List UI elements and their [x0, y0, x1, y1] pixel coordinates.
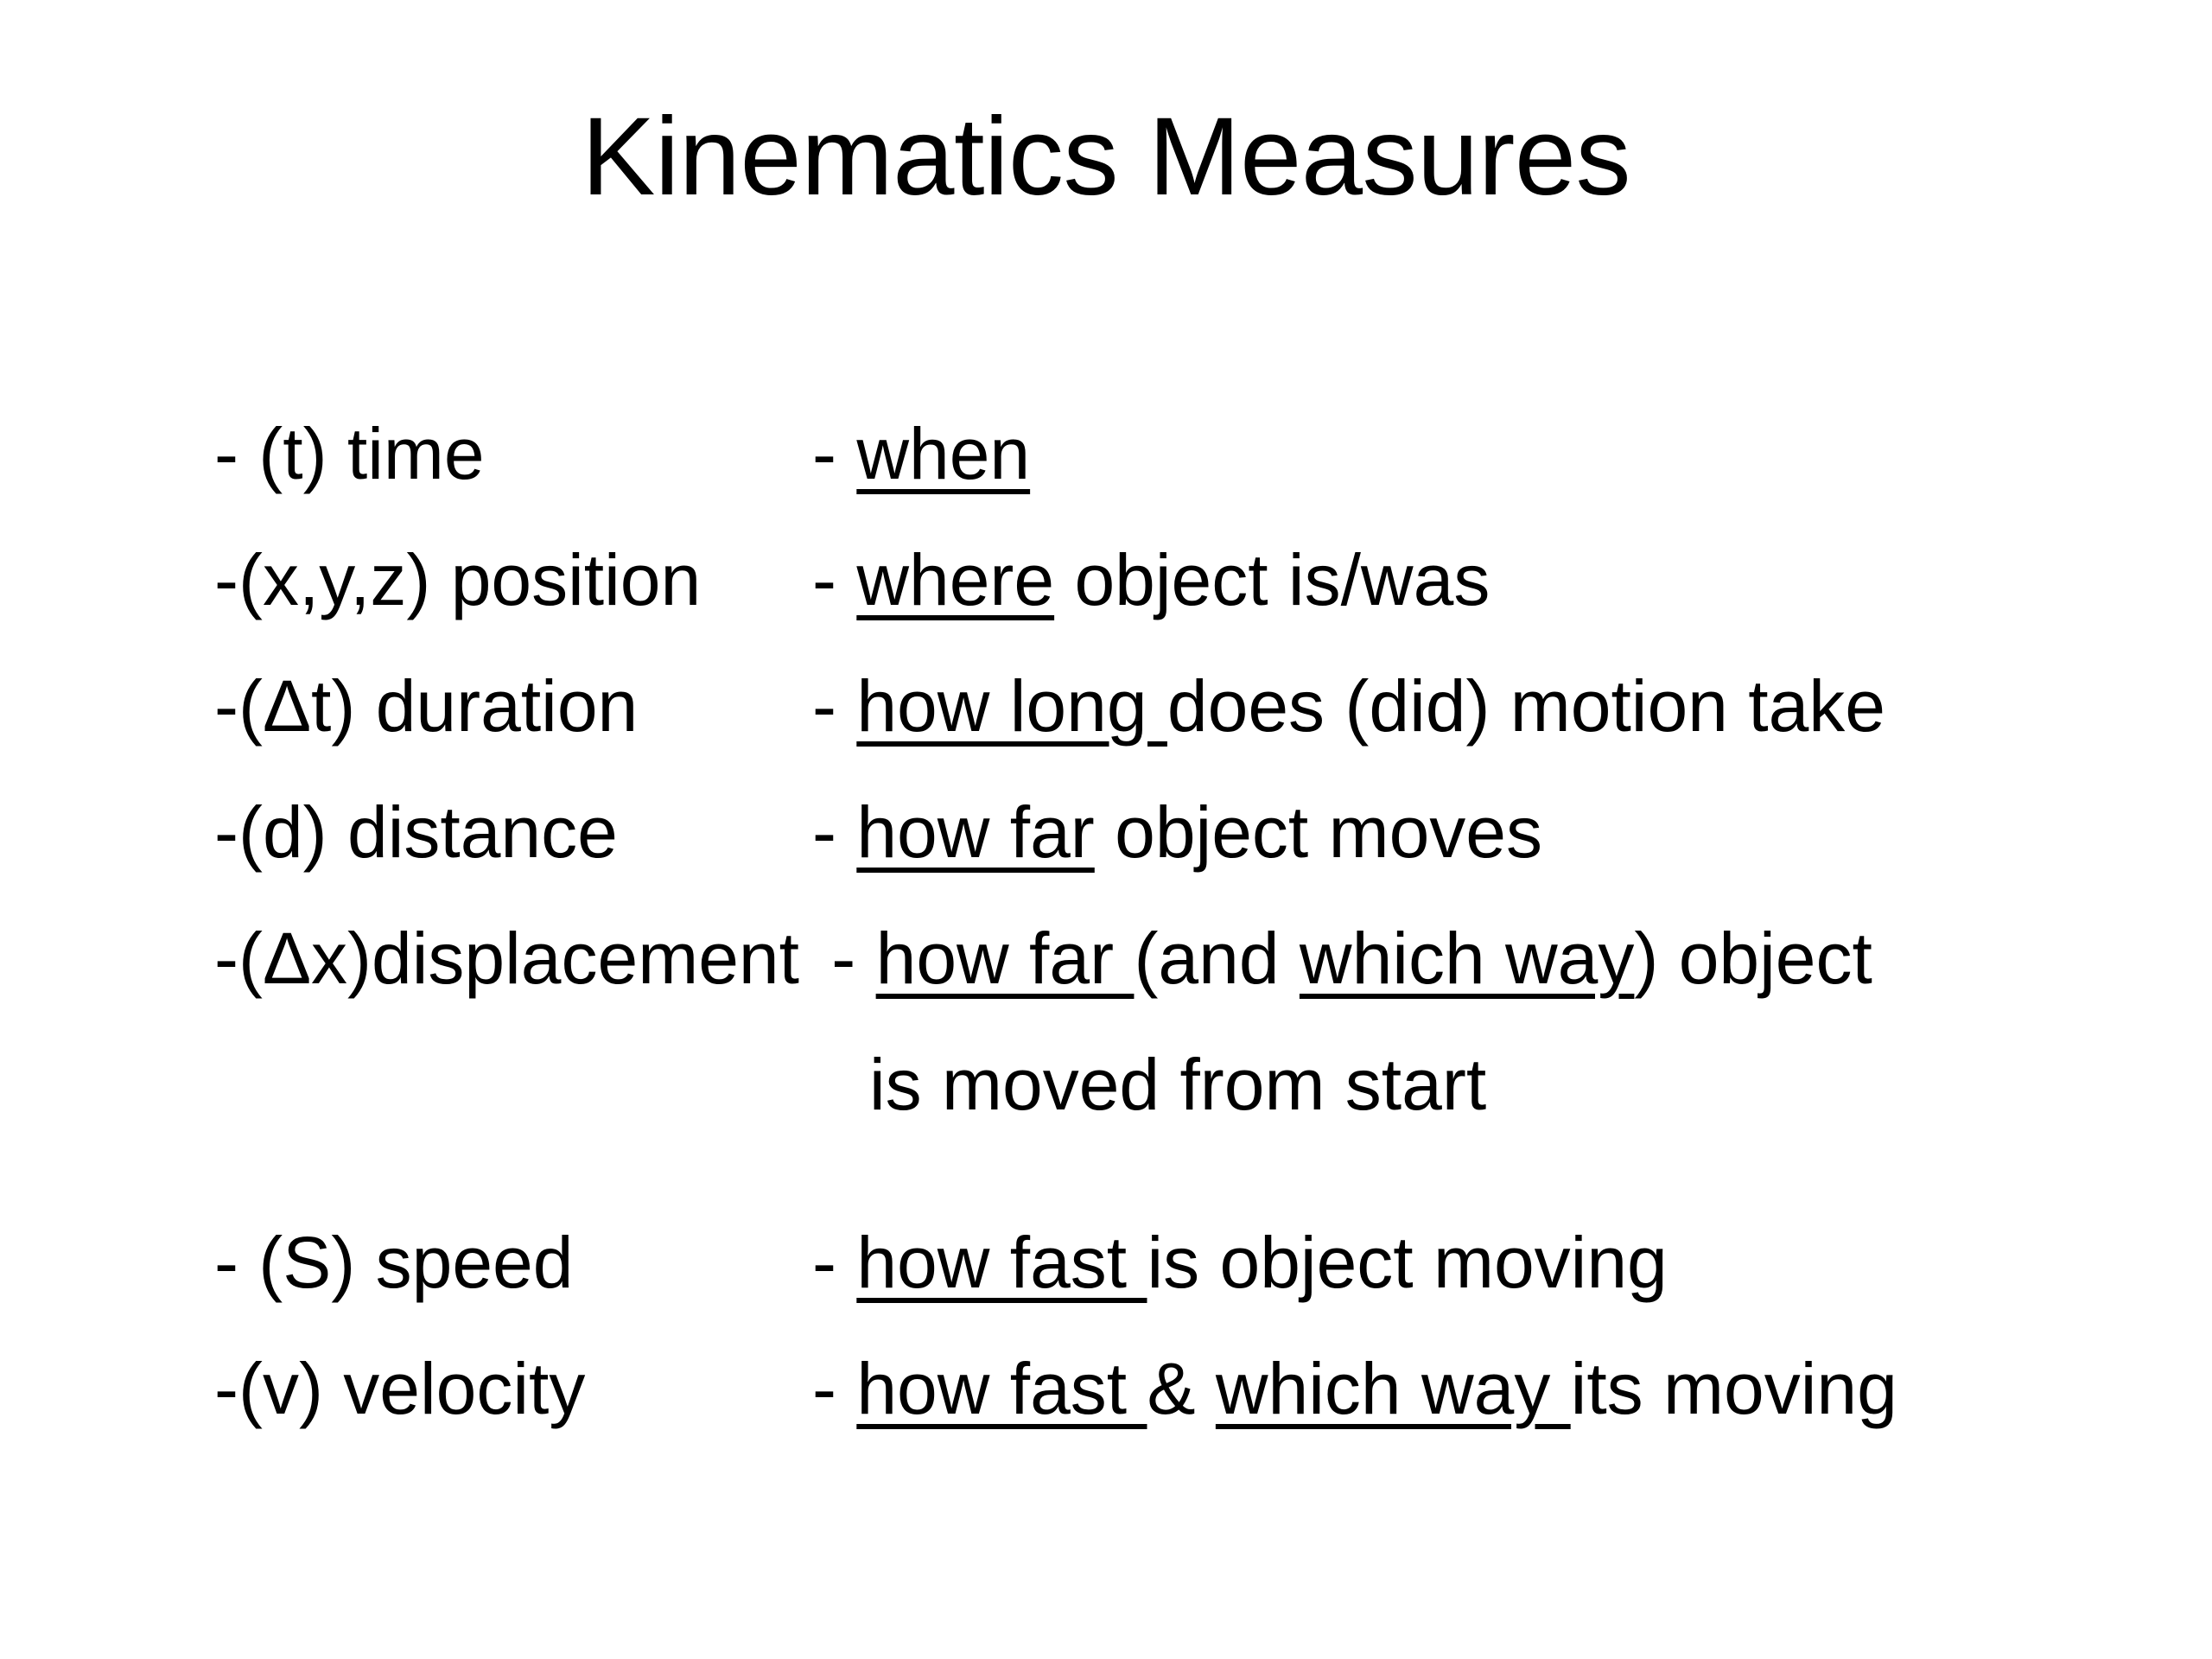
- term-distance: -(d) distance: [214, 769, 812, 895]
- page-title: Kinematics Measures: [582, 95, 1630, 219]
- spacer-line: [214, 1147, 2098, 1199]
- definition-dash-position: -: [812, 539, 856, 620]
- definition-dash-distance: -: [812, 791, 856, 873]
- definition-rest-velocity: its moving: [1571, 1348, 1897, 1429]
- keyword-when: when: [856, 413, 1030, 494]
- definition-duration: - how long does (did) motion take: [812, 643, 1885, 769]
- definition-rest-distance: object moves: [1095, 791, 1542, 873]
- list-item-velocity: -(v) velocity - how fast & which way its…: [214, 1325, 2098, 1452]
- definition-dash-velocity: -: [812, 1348, 856, 1429]
- title-placeholder: Kinematics Measures: [0, 95, 2212, 219]
- term-time: - (t) time: [214, 391, 812, 517]
- body-placeholder: - (t) time - when -(x,y,z) position - wh…: [214, 391, 2098, 1452]
- definition-mid-velocity: &: [1147, 1348, 1215, 1429]
- definition-continuation-displacement: is moved from start: [869, 1021, 1486, 1147]
- definition-velocity: - how fast & which way its moving: [812, 1325, 1897, 1452]
- definition-rest-duration: does (did) motion take: [1167, 665, 1885, 747]
- list-item-displacement-continuation: is moved from start: [214, 1021, 2098, 1147]
- term-displacement: -(Δx)displacement: [214, 895, 811, 1021]
- definition-rest-displacement: ) object: [1634, 918, 1872, 999]
- definition-distance: - how far object moves: [812, 769, 1542, 895]
- term-duration: -(Δt) duration: [214, 643, 812, 769]
- list-item-duration: -(Δt) duration - how long does (did) mot…: [214, 643, 2098, 769]
- term-velocity: -(v) velocity: [214, 1325, 812, 1452]
- definition-mid-displacement: (and: [1134, 918, 1299, 999]
- keyword-where: where: [856, 539, 1054, 620]
- keyword-how-fast-velocity: how fast: [856, 1348, 1147, 1429]
- definition-dash-duration: -: [812, 665, 856, 747]
- keyword-which-way-displacement: which way: [1300, 918, 1634, 999]
- list-item-time: - (t) time - when: [214, 391, 2098, 517]
- keyword-how-far: how far: [856, 791, 1094, 873]
- continuation-indent: [214, 1021, 869, 1147]
- definition-position: - where object is/was: [812, 517, 1490, 643]
- list-item-displacement: -(Δx)displacement - how far (and which w…: [214, 895, 2098, 1021]
- definition-speed: - how fast is object moving: [812, 1199, 1668, 1325]
- list-item-position: -(x,y,z) position - where object is/was: [214, 517, 2098, 643]
- list-item-distance: -(d) distance - how far object moves: [214, 769, 2098, 895]
- definition-time: - when: [812, 391, 1030, 517]
- slide-canvas: Kinematics Measures - (t) time - when -(…: [0, 0, 2212, 1659]
- keyword-how-fast-speed: how fast: [856, 1222, 1147, 1303]
- list-item-speed: - (S) speed - how fast is object moving: [214, 1199, 2098, 1325]
- term-position: -(x,y,z) position: [214, 517, 812, 643]
- definition-rest-speed: is object moving: [1147, 1222, 1667, 1303]
- definition-dash-displacement: -: [811, 918, 876, 999]
- definition-dash-speed: -: [812, 1222, 856, 1303]
- keyword-how-long: how long: [856, 665, 1167, 747]
- definition-rest-position: object is/was: [1054, 539, 1490, 620]
- term-speed: - (S) speed: [214, 1199, 812, 1325]
- keyword-how-far-displacement: how far: [876, 918, 1135, 999]
- definition-displacement: - how far (and which way) object: [811, 895, 1872, 1021]
- keyword-which-way-velocity: which way: [1216, 1348, 1571, 1429]
- definition-dash-time: -: [812, 413, 856, 494]
